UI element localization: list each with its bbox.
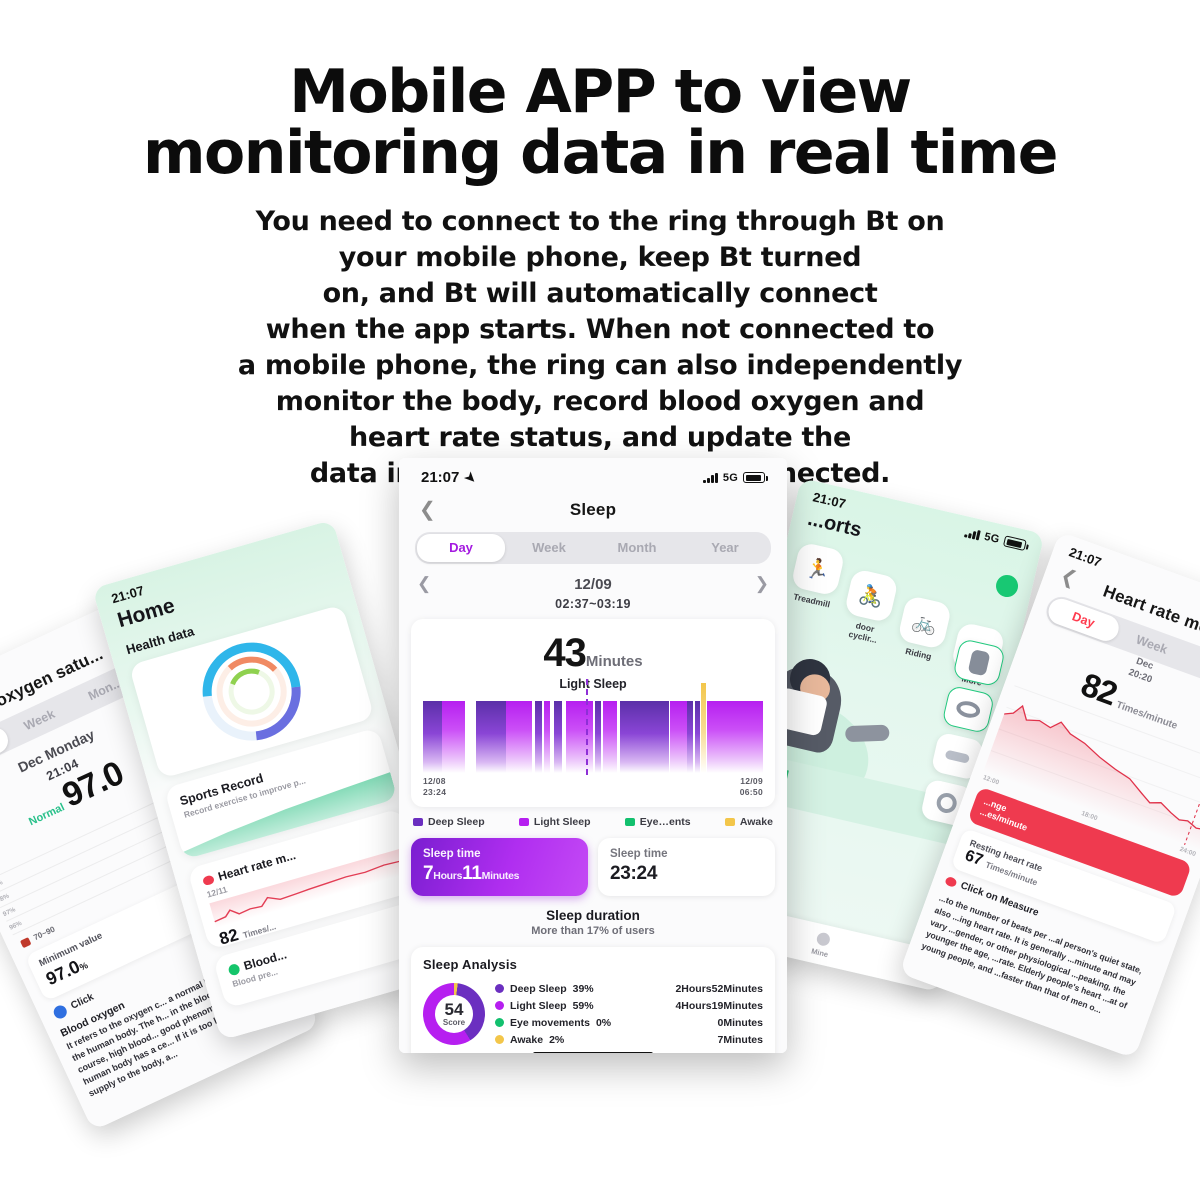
click-label: Click <box>69 992 95 1012</box>
status-bar: 21:07 ➤ 5G <box>399 458 787 490</box>
row-percent: 59% <box>573 1000 594 1012</box>
row-percent: 39% <box>573 983 594 995</box>
chart-end-date: 12/09 <box>740 776 763 787</box>
row-time: 2Hours52Minutes <box>675 983 763 995</box>
analysis-row: Awake 2% 7Minutes <box>495 1031 763 1048</box>
running-icon: 🏃 <box>790 541 845 596</box>
sleep-summary: 43Minutes Light Sleep <box>411 619 775 691</box>
sleep-stage-bars <box>423 701 763 773</box>
sport-mode-riding[interactable]: 🚲 Riding <box>894 595 954 664</box>
row-percent: 0% <box>596 1017 611 1029</box>
tab-day[interactable]: Day <box>417 534 505 562</box>
sleep-summary-card: 43Minutes Light Sleep <box>411 619 775 807</box>
sport-mode-label: door cyclir... <box>838 617 889 647</box>
row-name: Awake <box>510 1034 543 1046</box>
tile-label: Sleep time <box>610 848 763 860</box>
legend-label: Light Sleep <box>534 816 591 828</box>
battery-icon <box>1003 535 1027 551</box>
period-tabs[interactable]: Day Week Month Year <box>415 532 771 564</box>
sleep-time-tiles: Sleep time 7Hours11Minutes Sleep time 23… <box>399 828 787 896</box>
network-label: 5G <box>983 530 1000 545</box>
analysis-row: Eye movements 0% 0Minutes <box>495 1014 763 1031</box>
legend-label: Eye…ents <box>640 816 691 828</box>
tab-label: Mine <box>810 946 829 959</box>
legend-color-swatch <box>519 818 529 826</box>
legend-eye-movements: Eye…ents <box>625 816 691 828</box>
duration-subtitle: More than 17% of users <box>399 925 787 937</box>
chart-start-date: 12/08 <box>423 776 446 787</box>
paragraph-line: monitor the body, record blood oxygen an… <box>0 384 1200 420</box>
sleep-analysis-card: Sleep Analysis 54 Score Deep Sleep <box>411 947 775 1053</box>
legend-label: 70~90 <box>32 925 56 943</box>
battery-icon <box>743 472 765 483</box>
tile-value: 23:24 <box>610 863 763 885</box>
paragraph-line: your mobile phone, keep Bt turned <box>0 240 1200 276</box>
legend-awake: Awake <box>725 816 773 828</box>
sleep-summary-stage: Light Sleep <box>411 677 775 691</box>
heart-rate-value: 82 <box>217 925 240 948</box>
header: Mobile APP to view monitoring data in re… <box>0 0 1200 492</box>
activity-rings-icon <box>191 631 312 752</box>
sleep-chart-axis: 12/08 23:24 12/09 06:50 <box>423 776 763 797</box>
paragraph-line: You need to connect to the ring through … <box>0 204 1200 240</box>
signal-bars-icon <box>703 473 718 483</box>
heart-icon <box>202 874 215 886</box>
row-color-swatch <box>495 1018 504 1027</box>
heart-icon <box>944 876 957 888</box>
row-name: Deep Sleep <box>510 983 567 995</box>
row-time: 7Minutes <box>717 1034 763 1046</box>
network-label: 5G <box>723 472 738 484</box>
analysis-title: Sleep Analysis <box>423 957 763 972</box>
tile-hours: 7 <box>423 863 433 884</box>
date-label: 12/09 <box>574 576 612 593</box>
legend-color-swatch <box>20 937 32 948</box>
date-range: 02:37~03:19 <box>399 597 787 611</box>
spo2-status: Normal <box>27 801 66 828</box>
headline-line-1: Mobile APP to view <box>289 57 910 127</box>
sleep-summary-unit: Minutes <box>586 653 643 670</box>
sleep-start-tile[interactable]: Sleep time 23:24 <box>598 838 775 896</box>
tile-label: Sleep time <box>423 848 576 860</box>
legend-label: Deep Sleep <box>428 816 485 828</box>
tile-hours-unit: Hours <box>433 870 462 882</box>
signal-bars-icon <box>964 527 980 540</box>
sport-mode-indoor-cycling[interactable]: 🚴 door cyclir... <box>838 568 901 647</box>
chart-start-time: 23:24 <box>423 787 446 798</box>
row-name: Eye movements <box>510 1017 590 1029</box>
nav-bar: ❮ Sleep <box>399 490 787 532</box>
home-indicator <box>533 1052 653 1053</box>
status-time: 21:07 <box>421 469 459 486</box>
legend-color-swatch <box>413 818 423 826</box>
green-dot-icon <box>227 962 241 976</box>
date-nav[interactable]: ❮ 12/09 ❯ <box>399 564 787 594</box>
row-percent: 2% <box>549 1034 564 1046</box>
phone-fan-stage: 21:07 ❮ Blood oxygen satu... Day Week Mo… <box>0 440 1200 1200</box>
location-arrow-icon: ➤ <box>461 468 480 487</box>
legend-deep-sleep: Deep Sleep <box>413 816 485 828</box>
row-time: 4Hours19Minutes <box>675 1000 763 1012</box>
analysis-row: Deep Sleep 39% 2Hours52Minutes <box>495 980 763 997</box>
row-time: 0Minutes <box>717 1017 763 1029</box>
ring-icon[interactable] <box>941 685 995 734</box>
row-color-swatch <box>495 1001 504 1010</box>
paragraph-line: on, and Bt will automatically connect <box>0 276 1200 312</box>
sleep-legend: Deep Sleep Light Sleep Eye…ents Awake <box>399 807 787 828</box>
row-name: Light Sleep <box>510 1000 567 1012</box>
page-title: Mobile APP to view monitoring data in re… <box>0 0 1200 184</box>
sport-mode-treadmill[interactable]: 🏃 Treadmill <box>787 541 847 610</box>
legend-color-swatch <box>725 818 735 826</box>
sleep-screen: 21:07 ➤ 5G ❮ Sleep Day Week M <box>399 458 787 1053</box>
chart-end-time: 06:50 <box>740 787 763 798</box>
legend-color-swatch <box>625 818 635 826</box>
y-tick: 96% <box>8 920 23 932</box>
sleep-duration-compare: Sleep duration More than 17% of users <box>399 896 787 937</box>
promo-page: Mobile APP to view monitoring data in re… <box>0 0 1200 1200</box>
score-label: Score <box>443 1018 465 1027</box>
prev-day-icon[interactable]: ❮ <box>417 574 431 594</box>
y-tick: 97% <box>2 906 17 918</box>
phone-sleep: 21:07 ➤ 5G ❮ Sleep Day Week M <box>399 458 787 1053</box>
paragraph-line: when the app starts. When not connected … <box>0 312 1200 348</box>
tab-week[interactable]: Week <box>505 534 593 562</box>
analysis-row: Light Sleep 59% 4Hours19Minutes <box>495 997 763 1014</box>
heart-rate-unit: Times/... <box>242 921 277 940</box>
next-day-icon[interactable]: ❯ <box>755 574 769 594</box>
bicycle-icon: 🚲 <box>897 595 952 650</box>
sleep-score-donut: 54 Score <box>423 983 485 1045</box>
tile-minutes: 11 <box>462 863 482 884</box>
analysis-rows: Deep Sleep 39% 2Hours52Minutes Light Sle… <box>495 980 763 1048</box>
indoor-cycling-icon: 🚴 <box>844 568 899 623</box>
duration-title: Sleep duration <box>399 908 787 923</box>
sleep-duration-tile[interactable]: Sleep time 7Hours11Minutes <box>411 838 588 896</box>
tab-month[interactable]: Month <box>593 534 681 562</box>
row-color-swatch <box>495 984 504 993</box>
person-icon <box>815 931 831 947</box>
row-color-swatch <box>495 1035 504 1044</box>
tab-year[interactable]: Year <box>681 534 769 562</box>
score-value: 54 <box>445 1001 464 1018</box>
tab-mine[interactable]: Mine <box>810 930 832 958</box>
page-title: Sleep <box>399 500 787 520</box>
blue-dot-icon <box>52 1003 69 1020</box>
paragraph-line: a mobile phone, the ring can also indepe… <box>0 348 1200 384</box>
legend-label: Awake <box>740 816 773 828</box>
status-icons: 5G <box>703 472 765 484</box>
sleep-stage-chart <box>423 701 763 773</box>
headline-line-2: monitoring data in real time <box>0 123 1200 184</box>
sleep-summary-value: 43 <box>543 631 586 675</box>
legend-light-sleep: Light Sleep <box>519 816 591 828</box>
tile-minutes-unit: Minutes <box>482 870 520 882</box>
